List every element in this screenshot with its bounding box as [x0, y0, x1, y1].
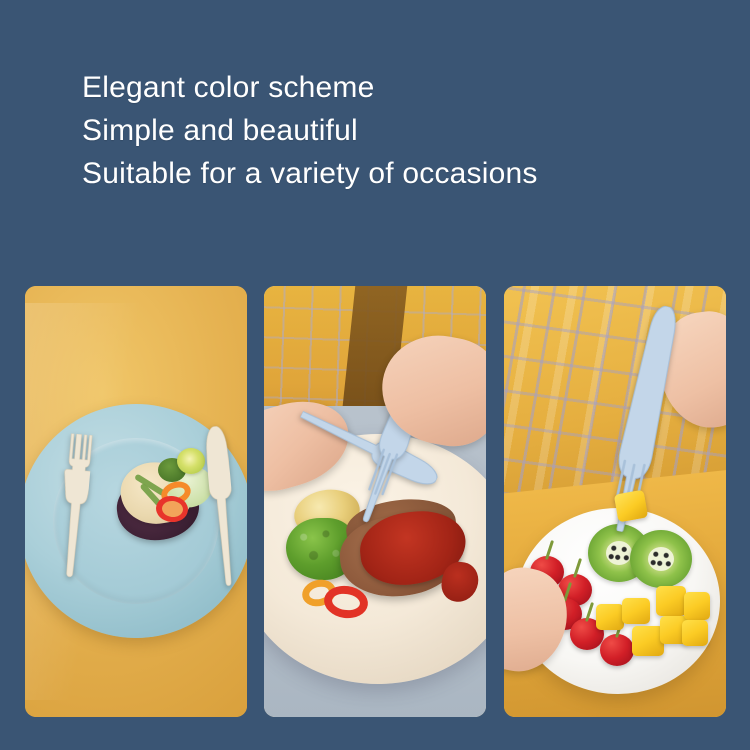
mango-cube	[684, 592, 710, 620]
mango-cube	[596, 604, 624, 630]
banner-root: Elegant color scheme Simple and beautifu…	[0, 0, 750, 750]
photo-panel-steak	[264, 286, 486, 717]
panel-2-scene	[264, 286, 486, 717]
headline-line-1: Elegant color scheme	[82, 66, 538, 109]
headline-line-3: Suitable for a variety of occasions	[82, 152, 538, 195]
mango-cube-on-fork	[614, 490, 648, 523]
mango-cube	[622, 598, 650, 624]
lime-slice	[177, 448, 205, 474]
mango-cube	[656, 586, 686, 616]
panel-3-scene	[504, 286, 726, 717]
photo-panel-fruit	[504, 286, 726, 717]
headline-block: Elegant color scheme Simple and beautifu…	[82, 66, 538, 195]
cherry	[600, 634, 634, 666]
headline-line-2: Simple and beautiful	[82, 109, 538, 152]
photo-panel-blue-plate	[25, 286, 247, 717]
mango-cube	[682, 620, 708, 646]
panel-1-scene	[25, 286, 247, 717]
kiwi-slice	[630, 530, 692, 588]
photo-panel-strip	[0, 286, 750, 718]
